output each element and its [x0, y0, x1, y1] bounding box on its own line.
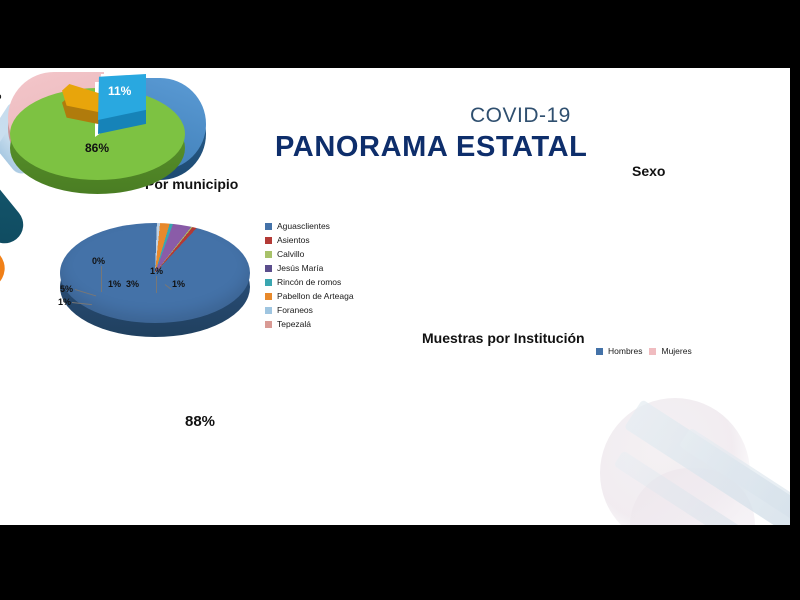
callout-label-5pct: 5% [60, 284, 73, 294]
legend-swatch-icon [265, 265, 272, 272]
legend-item[interactable]: Rincón de romos [265, 277, 354, 287]
decor-sliver-1-icon [624, 399, 790, 525]
legend-label: Asientos [277, 235, 310, 245]
pie-slice-label-isste: 3% [0, 91, 1, 102]
decor-sliver-2-icon [679, 427, 790, 525]
legend-label: Mujeres [661, 346, 691, 356]
screenshot-root: COVID-19 PANORAMA ESTATAL Por municipio … [0, 0, 800, 600]
decor-blob-large-icon [600, 398, 750, 525]
pie-slice-label-issea: 86% [85, 141, 109, 155]
presentation-slide: COVID-19 PANORAMA ESTATAL Por municipio … [0, 68, 790, 525]
legend-item[interactable]: Mujeres [649, 346, 691, 356]
legend-swatch-icon [265, 223, 272, 230]
legend-label: Jesús María [277, 263, 323, 273]
legend-label: Tepezalá [277, 319, 311, 329]
legend-item[interactable]: Hombres [596, 346, 642, 356]
legend-label: Foraneos [277, 305, 313, 315]
callout-leader-1pct-c [156, 276, 157, 293]
callout-label-1pct-b: 1% [108, 279, 121, 289]
legend-label: Pabellon de Arteaga [277, 291, 354, 301]
legend-swatch-icon [265, 293, 272, 300]
pie-slice-label-aguascalientes: 88% [185, 413, 215, 430]
decor-sliver-3-icon [613, 450, 740, 525]
callout-label-1pct-a: 1% [58, 297, 71, 307]
legend-item[interactable]: Aguasclientes [265, 221, 354, 231]
legend-item[interactable]: Calvillo [265, 249, 354, 259]
legend-item[interactable]: Foraneos [265, 305, 354, 315]
legend-swatch-icon [265, 251, 272, 258]
chart-title-sexo: Sexo [632, 163, 665, 179]
legend-swatch-icon [265, 321, 272, 328]
callout-label-1pct-c: 1% [150, 266, 163, 276]
legend-item[interactable]: Pabellon de Arteaga [265, 291, 354, 301]
legend-label: Calvillo [277, 249, 304, 259]
legend-item[interactable]: Asientos [265, 235, 354, 245]
decor-blob-small-icon [630, 468, 755, 525]
legend-swatch-icon [265, 279, 272, 286]
legend-swatch-icon [265, 237, 272, 244]
page-title: PANORAMA ESTATAL [275, 131, 587, 164]
callout-leader-0pct [101, 266, 102, 292]
legend-swatch-icon [649, 348, 656, 355]
legend-item[interactable]: Tepezalá [265, 319, 354, 329]
slide-eyebrow: COVID-19 [470, 104, 571, 128]
legend-label: Aguasclientes [277, 221, 330, 231]
legend-label: Rincón de romos [277, 277, 341, 287]
callout-label-3pct: 3% [126, 279, 139, 289]
legend-por-municipio: Aguasclientes Asientos Calvillo Jesús Ma… [265, 221, 354, 333]
letterbox-right [790, 0, 800, 600]
legend-swatch-icon [265, 307, 272, 314]
callout-label-0pct: 0% [92, 256, 105, 266]
callout-label-1pct-d: 1% [172, 279, 185, 289]
legend-label: Hombres [608, 346, 642, 356]
legend-swatch-icon [596, 348, 603, 355]
legend-item[interactable]: Jesús María [265, 263, 354, 273]
legend-sexo: Hombres Mujeres [596, 346, 699, 356]
pie-slice-label-imss: 11% [108, 84, 131, 98]
chart-title-muestras: Muestras por Institución [422, 330, 585, 346]
